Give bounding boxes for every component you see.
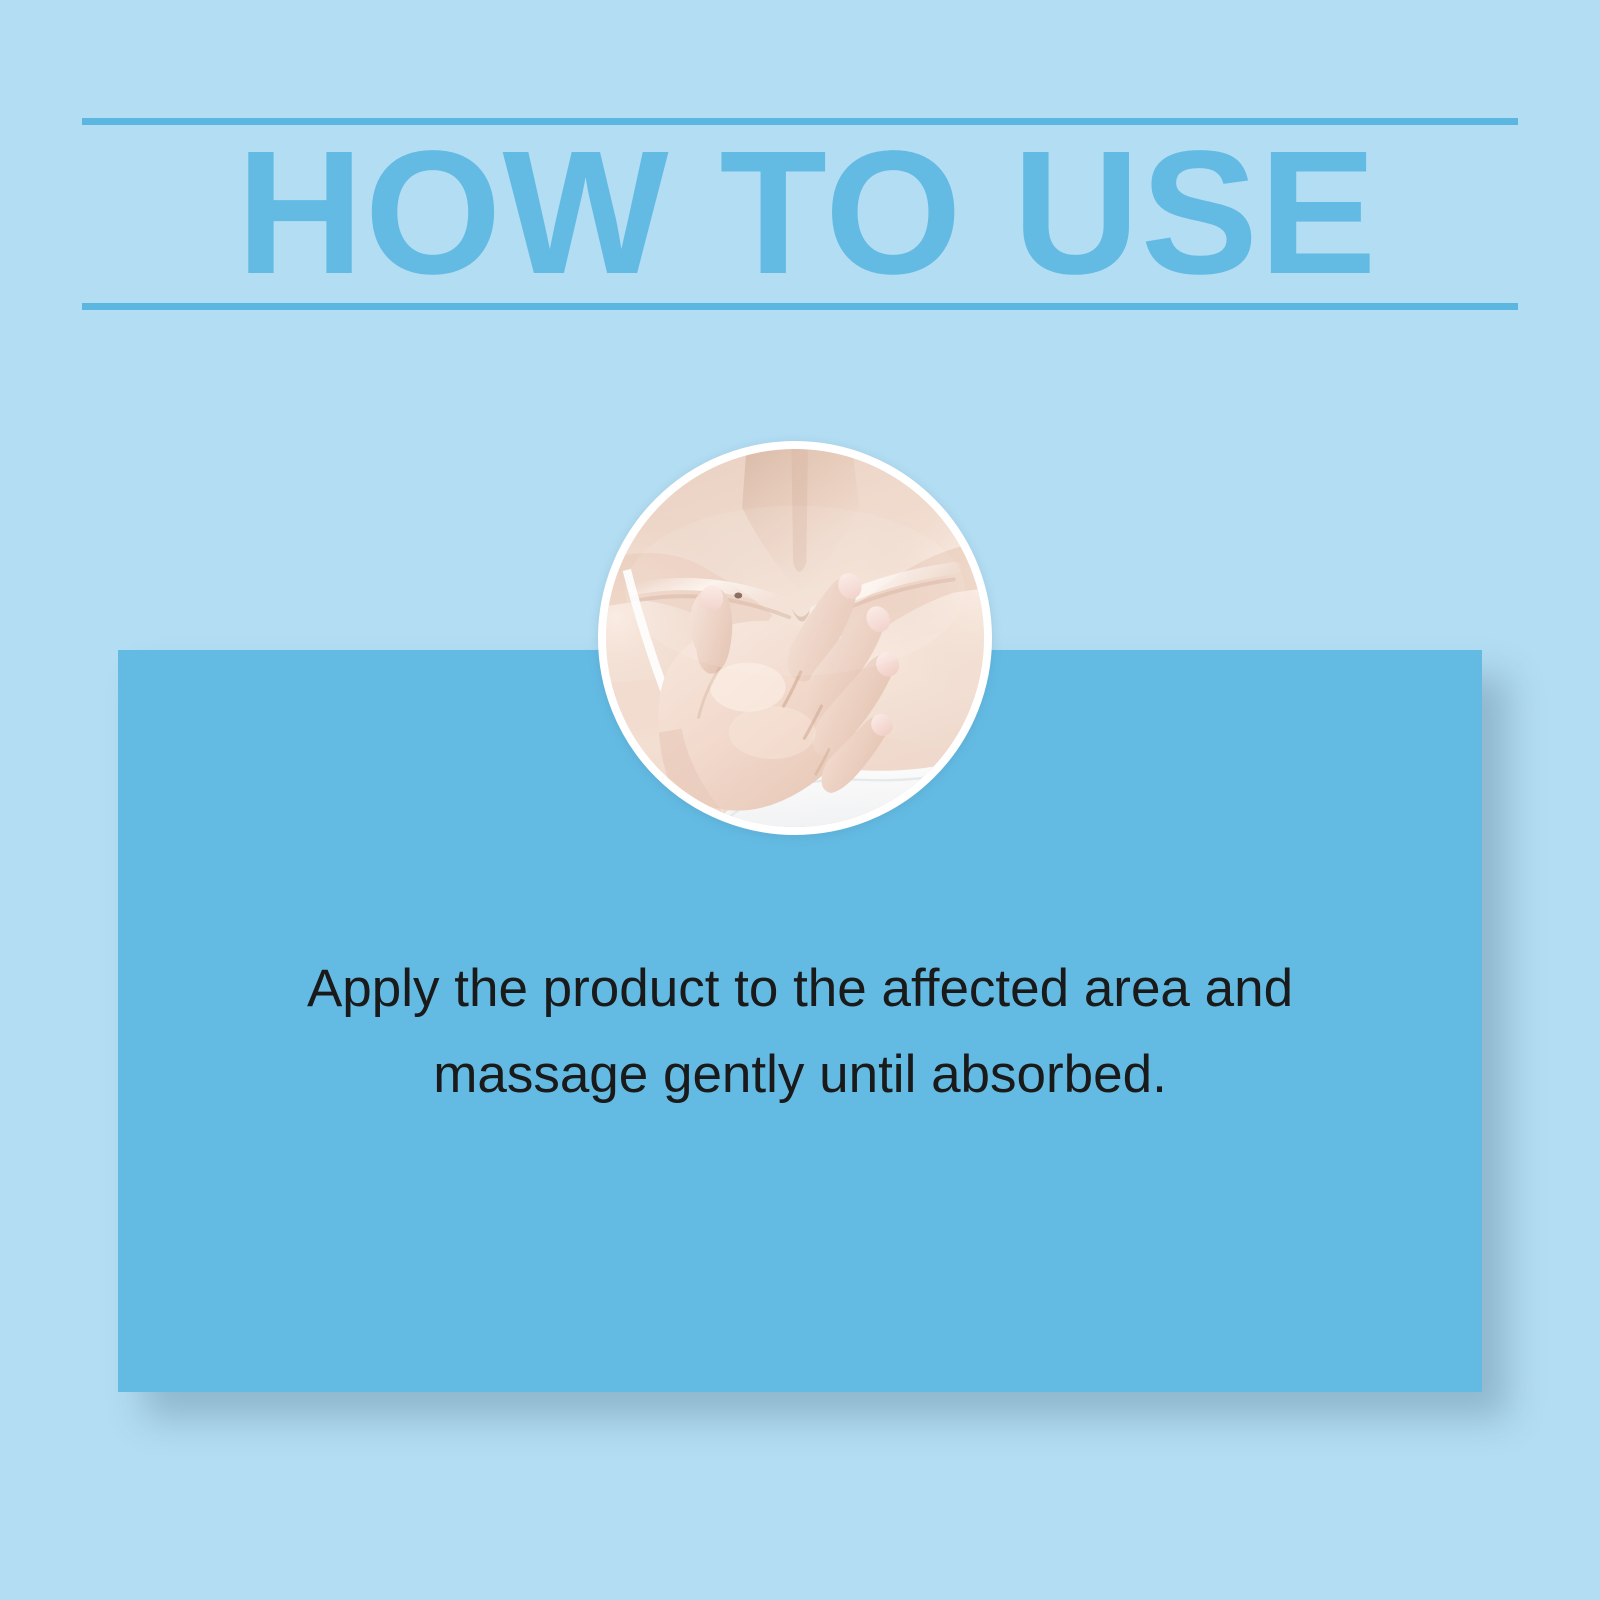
header-block: HOW TO USE [82, 118, 1518, 310]
photo-clip [606, 449, 984, 827]
bottom-divider-rule [82, 303, 1518, 310]
circular-photo-frame [598, 441, 992, 835]
instruction-text: Apply the product to the affected area a… [238, 946, 1362, 1118]
skincare-application-photo [606, 449, 984, 827]
page-title: HOW TO USE [82, 133, 1518, 295]
how-to-use-poster: HOW TO USE Apply the product to the affe… [0, 0, 1600, 1600]
